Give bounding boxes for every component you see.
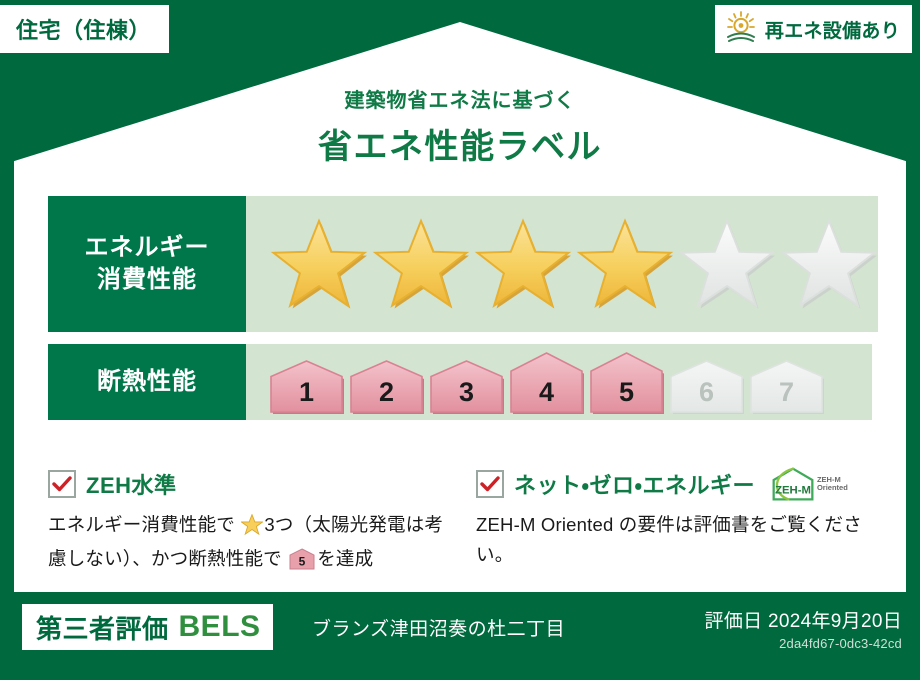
house-grade-5-icon: 5 [284, 553, 315, 574]
criteria-zeh-header: ZEH水準 [48, 468, 448, 500]
criteria-nze-header: ネット・ゼロ・エネルギー ZEH-M ZEH-M Oriented [476, 468, 876, 500]
bels-jp-label: 第三者評価 [36, 609, 169, 646]
zeh-m-house-icon: ZEH-M [771, 466, 815, 502]
criteria-zeh-body-part3: を達成 [317, 548, 373, 569]
building-type-label: 住宅（住棟） [16, 13, 151, 45]
insulation-grade-number: 7 [748, 377, 825, 408]
insulation-performance-label: 断熱性能 [48, 344, 246, 420]
star-empty-icon [780, 217, 878, 311]
checkbox-zeh-standard[interactable] [48, 470, 76, 498]
zeh-m-sub-line2: Oriented [817, 484, 848, 492]
energy-label-line2: 消費性能 [97, 264, 197, 296]
criteria-zeh-body-part1: エネルギー消費性能で [48, 514, 235, 535]
svg-text:5: 5 [299, 554, 306, 568]
star-filled-icon [372, 217, 470, 311]
svg-text:ZEH-M: ZEH-M [775, 484, 811, 496]
star-icon [236, 518, 263, 539]
criteria-nze-body: ZEH-M Oriented の要件は評価書をご覧ください。 [476, 510, 876, 570]
criteria-net-zero-energy: ネット・ゼロ・エネルギー ZEH-M ZEH-M Oriented ZEH-M … [476, 468, 876, 579]
check-icon [480, 476, 500, 492]
property-name: ブランズ津田沼奏の杜二丁目 [312, 614, 565, 641]
zeh-m-logo: ZEH-M ZEH-M Oriented [771, 466, 848, 502]
criteria-section: ZEH水準 エネルギー消費性能で 3つ（太陽光発電は考慮しない）、かつ断熱性能で… [48, 468, 876, 579]
check-icon [52, 476, 72, 492]
title-subtitle: 建築物省エネ法に基づく [0, 84, 920, 113]
insulation-performance-value: 1234567 [246, 344, 872, 420]
evaluation-id: 2da4fd67-0dc3-42cd [705, 636, 902, 651]
title-block: 建築物省エネ法に基づく 省エネ性能ラベル [0, 84, 920, 168]
renewable-energy-badge: 再エネ設備あり [715, 5, 912, 53]
insulation-grade-chip: 3 [428, 358, 505, 414]
title-main: 省エネ性能ラベル [0, 119, 920, 168]
insulation-performance-row: 断熱性能 1234567 [48, 344, 872, 420]
insulation-grade-number: 2 [348, 377, 425, 408]
star-filled-icon [270, 217, 368, 311]
insulation-grade-number: 5 [588, 377, 665, 408]
sun-energy-icon [723, 10, 759, 49]
insulation-grade-chip: 5 [588, 350, 665, 414]
criteria-zeh-title: ZEH水準 [86, 468, 177, 500]
insulation-grade-scale: 1234567 [268, 350, 825, 414]
bels-en-label: BELS [179, 610, 261, 644]
criteria-zeh-body: エネルギー消費性能で 3つ（太陽光発電は考慮しない）、かつ断熱性能で 5 を達成 [48, 510, 448, 579]
insulation-grade-chip: 6 [668, 358, 745, 414]
renewable-energy-label: 再エネ設備あり [765, 16, 900, 43]
insulation-grade-number: 3 [428, 377, 505, 408]
insulation-grade-chip: 4 [508, 350, 585, 414]
insulation-label-text: 断熱性能 [97, 366, 197, 398]
energy-performance-label: 住宅（住棟） 再エネ設備あり 建築 [0, 0, 920, 680]
insulation-grade-number: 4 [508, 377, 585, 408]
checkbox-net-zero-energy[interactable] [476, 470, 504, 498]
insulation-grade-number: 1 [268, 377, 345, 408]
insulation-grade-chip: 1 [268, 358, 345, 414]
energy-label-line1: エネルギー [85, 232, 210, 264]
building-type-tag: 住宅（住棟） [0, 5, 169, 53]
criteria-nze-title: ネット・ゼロ・エネルギー [514, 468, 755, 500]
insulation-grade-number: 6 [668, 377, 745, 408]
evaluation-info: 評価日 2024年9月20日 2da4fd67-0dc3-42cd [705, 606, 902, 651]
insulation-grade-chip: 7 [748, 358, 825, 414]
energy-performance-label: エネルギー 消費性能 [48, 196, 246, 332]
energy-performance-value [246, 196, 878, 332]
star-filled-icon [576, 217, 674, 311]
star-empty-icon [678, 217, 776, 311]
bels-certification-box: 第三者評価 BELS [22, 604, 273, 650]
star-filled-icon [474, 217, 572, 311]
star-rating [270, 217, 878, 311]
criteria-zeh-standard: ZEH水準 エネルギー消費性能で 3つ（太陽光発電は考慮しない）、かつ断熱性能で… [48, 468, 448, 579]
insulation-grade-chip: 2 [348, 358, 425, 414]
energy-performance-row: エネルギー 消費性能 [48, 196, 872, 332]
evaluation-date: 評価日 2024年9月20日 [705, 606, 902, 633]
footer-bar: 第三者評価 BELS ブランズ津田沼奏の杜二丁目 評価日 2024年9月20日 … [0, 592, 920, 680]
